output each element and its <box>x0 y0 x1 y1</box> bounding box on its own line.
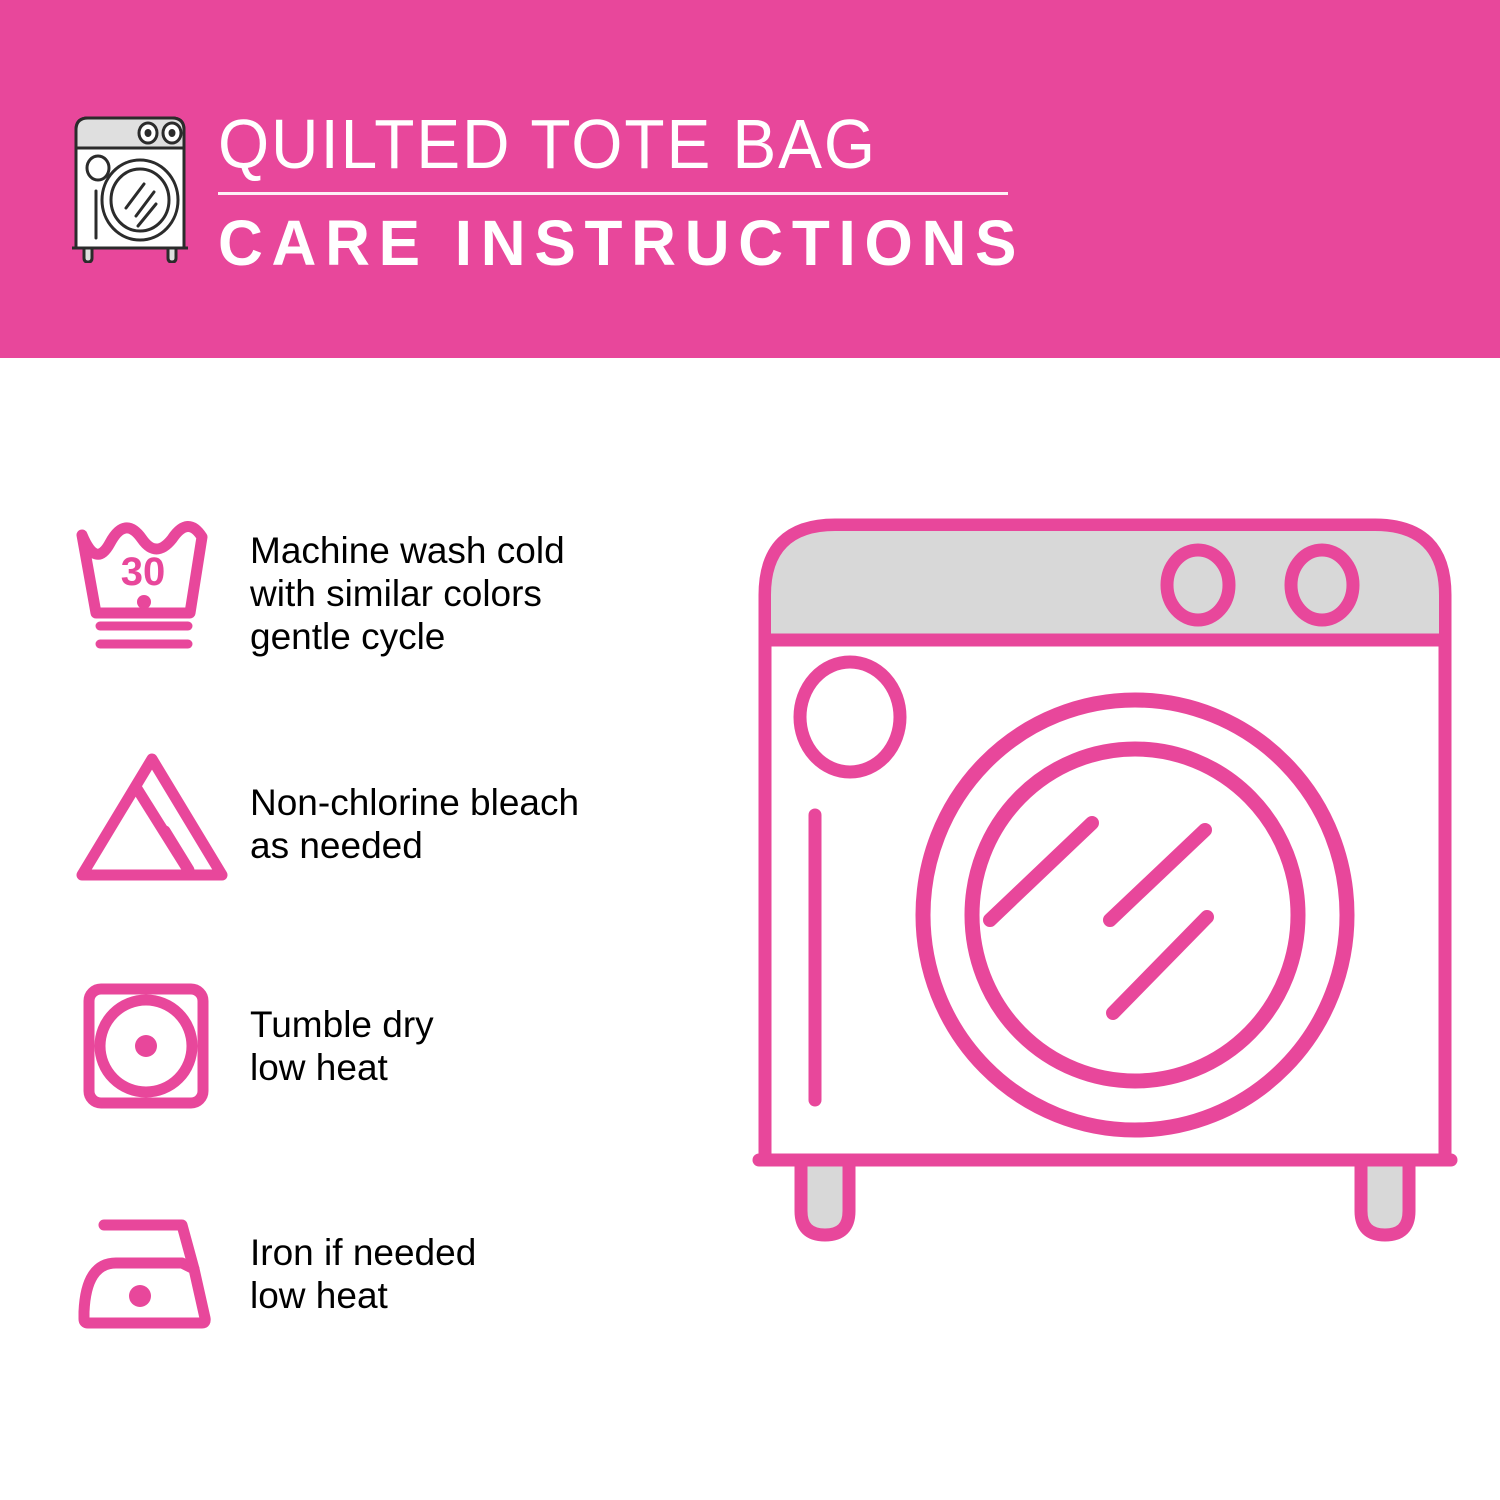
care-instruction-label-bleach: Non-chlorine bleach as needed <box>250 735 710 867</box>
label-line: low heat <box>250 1046 710 1089</box>
label-line: Non-chlorine bleach <box>250 781 710 824</box>
iron-low-heat-icon <box>70 1195 250 1347</box>
svg-text:30: 30 <box>121 550 166 594</box>
header-banner: QUILTED TOTE BAG CARE INSTRUCTIONS <box>0 0 1500 358</box>
label-line: low heat <box>250 1274 710 1317</box>
care-instruction-item-tumble-dry: Tumble dry low heat <box>70 965 710 1195</box>
label-line: Machine wash cold <box>250 529 710 572</box>
care-instruction-item-iron: Iron if needed low heat <box>70 1195 710 1425</box>
title-divider <box>218 192 1008 195</box>
triangle-non-chlorine-bleach-icon <box>70 735 250 887</box>
care-instruction-item-wash: 30 Machine wash cold with similar colors… <box>70 505 710 735</box>
care-instruction-item-bleach: Non-chlorine bleach as needed <box>70 735 710 965</box>
care-instruction-label-wash: Machine wash cold with similar colors ge… <box>250 505 710 658</box>
page-title: QUILTED TOTE BAG <box>218 106 970 182</box>
care-instruction-label-tumble-dry: Tumble dry low heat <box>250 965 710 1089</box>
label-line: Iron if needed <box>250 1231 710 1274</box>
washing-machine-logo-icon <box>66 108 194 263</box>
care-instruction-label-iron: Iron if needed low heat <box>250 1195 710 1317</box>
header-text-block: QUILTED TOTE BAG CARE INSTRUCTIONS <box>218 106 1018 277</box>
label-line: gentle cycle <box>250 615 710 658</box>
wash-tub-30-gentle-icon: 30 <box>70 505 250 657</box>
care-instruction-list: 30 Machine wash cold with similar colors… <box>70 505 710 1425</box>
page-subtitle: CARE INSTRUCTIONS <box>218 209 994 277</box>
label-line: as needed <box>250 824 710 867</box>
label-line: with similar colors <box>250 572 710 615</box>
washing-machine-illustration <box>735 495 1475 1445</box>
label-line: Tumble dry <box>250 1003 710 1046</box>
tumble-dry-low-icon <box>70 965 250 1117</box>
